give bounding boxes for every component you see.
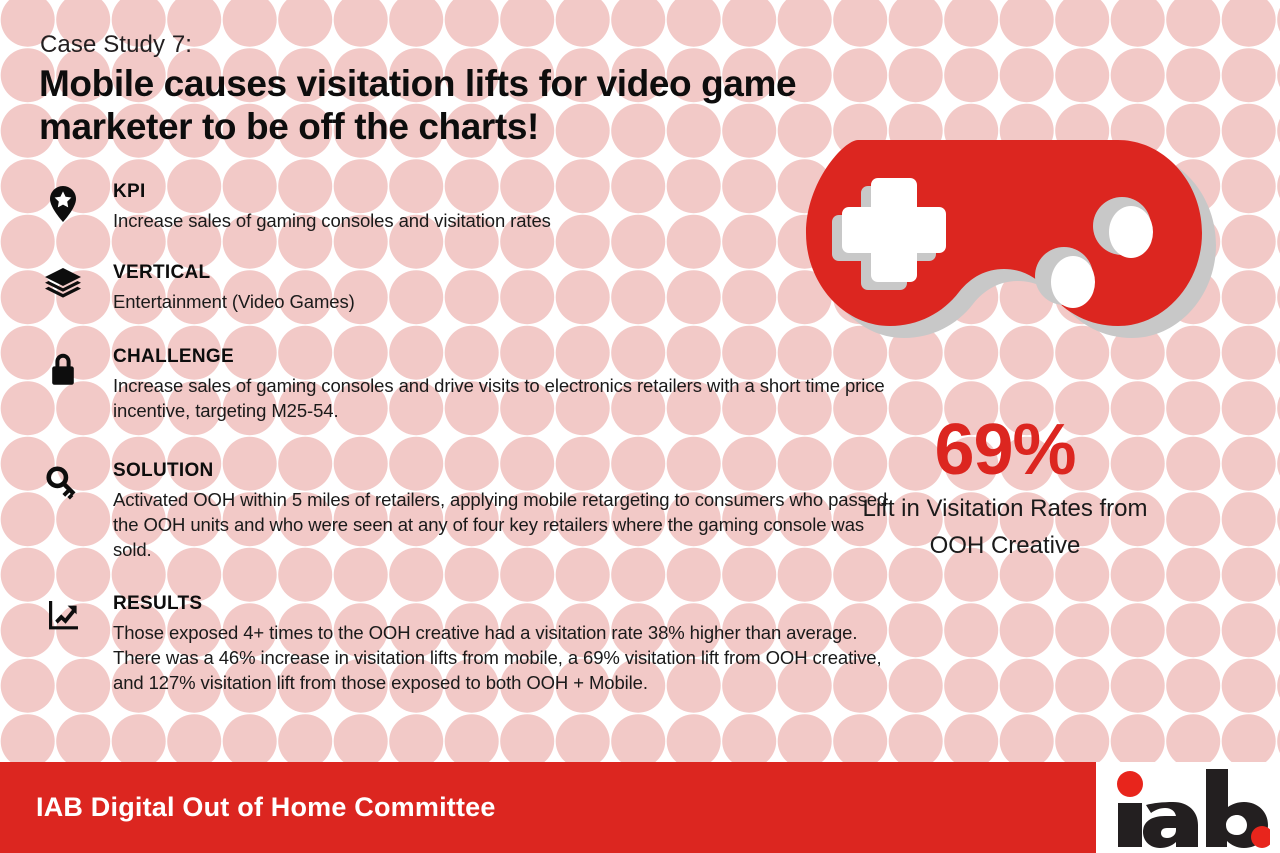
content-column: Case Study 7: Mobile causes visitation l…: [0, 0, 860, 760]
stat-caption: Lift in Visitation Rates from OOH Creati…: [760, 490, 1250, 564]
stat-block: 69% Lift in Visitation Rates from OOH Cr…: [760, 412, 1250, 564]
eyebrow-label: Case Study 7:: [40, 31, 192, 59]
stat-caption-line-1: Lift in Visitation Rates from: [760, 490, 1250, 527]
map-pin-star-icon: [40, 181, 86, 227]
padlock-icon: [40, 346, 86, 392]
stat-value: 69%: [760, 412, 1250, 488]
game-controller-icon: [760, 130, 1260, 400]
section-body: RESULTS Those exposed 4+ times to the OO…: [113, 593, 903, 695]
iab-logo: [1096, 762, 1280, 853]
highlight-column: 69% Lift in Visitation Rates from OOH Cr…: [760, 130, 1260, 580]
footer-title: IAB Digital Out of Home Committee: [36, 792, 496, 823]
section-description: Those exposed 4+ times to the OOH creati…: [113, 620, 903, 695]
section-heading: RESULTS: [113, 593, 903, 615]
stat-caption-line-2: OOH Creative: [760, 527, 1250, 564]
key-icon: [40, 460, 86, 506]
trending-up-chart-icon: [40, 593, 86, 639]
footer-bar: IAB Digital Out of Home Committee: [0, 762, 1096, 853]
layers-stack-icon: [40, 262, 86, 308]
infographic-page: Case Study 7: Mobile causes visitation l…: [0, 0, 1280, 853]
